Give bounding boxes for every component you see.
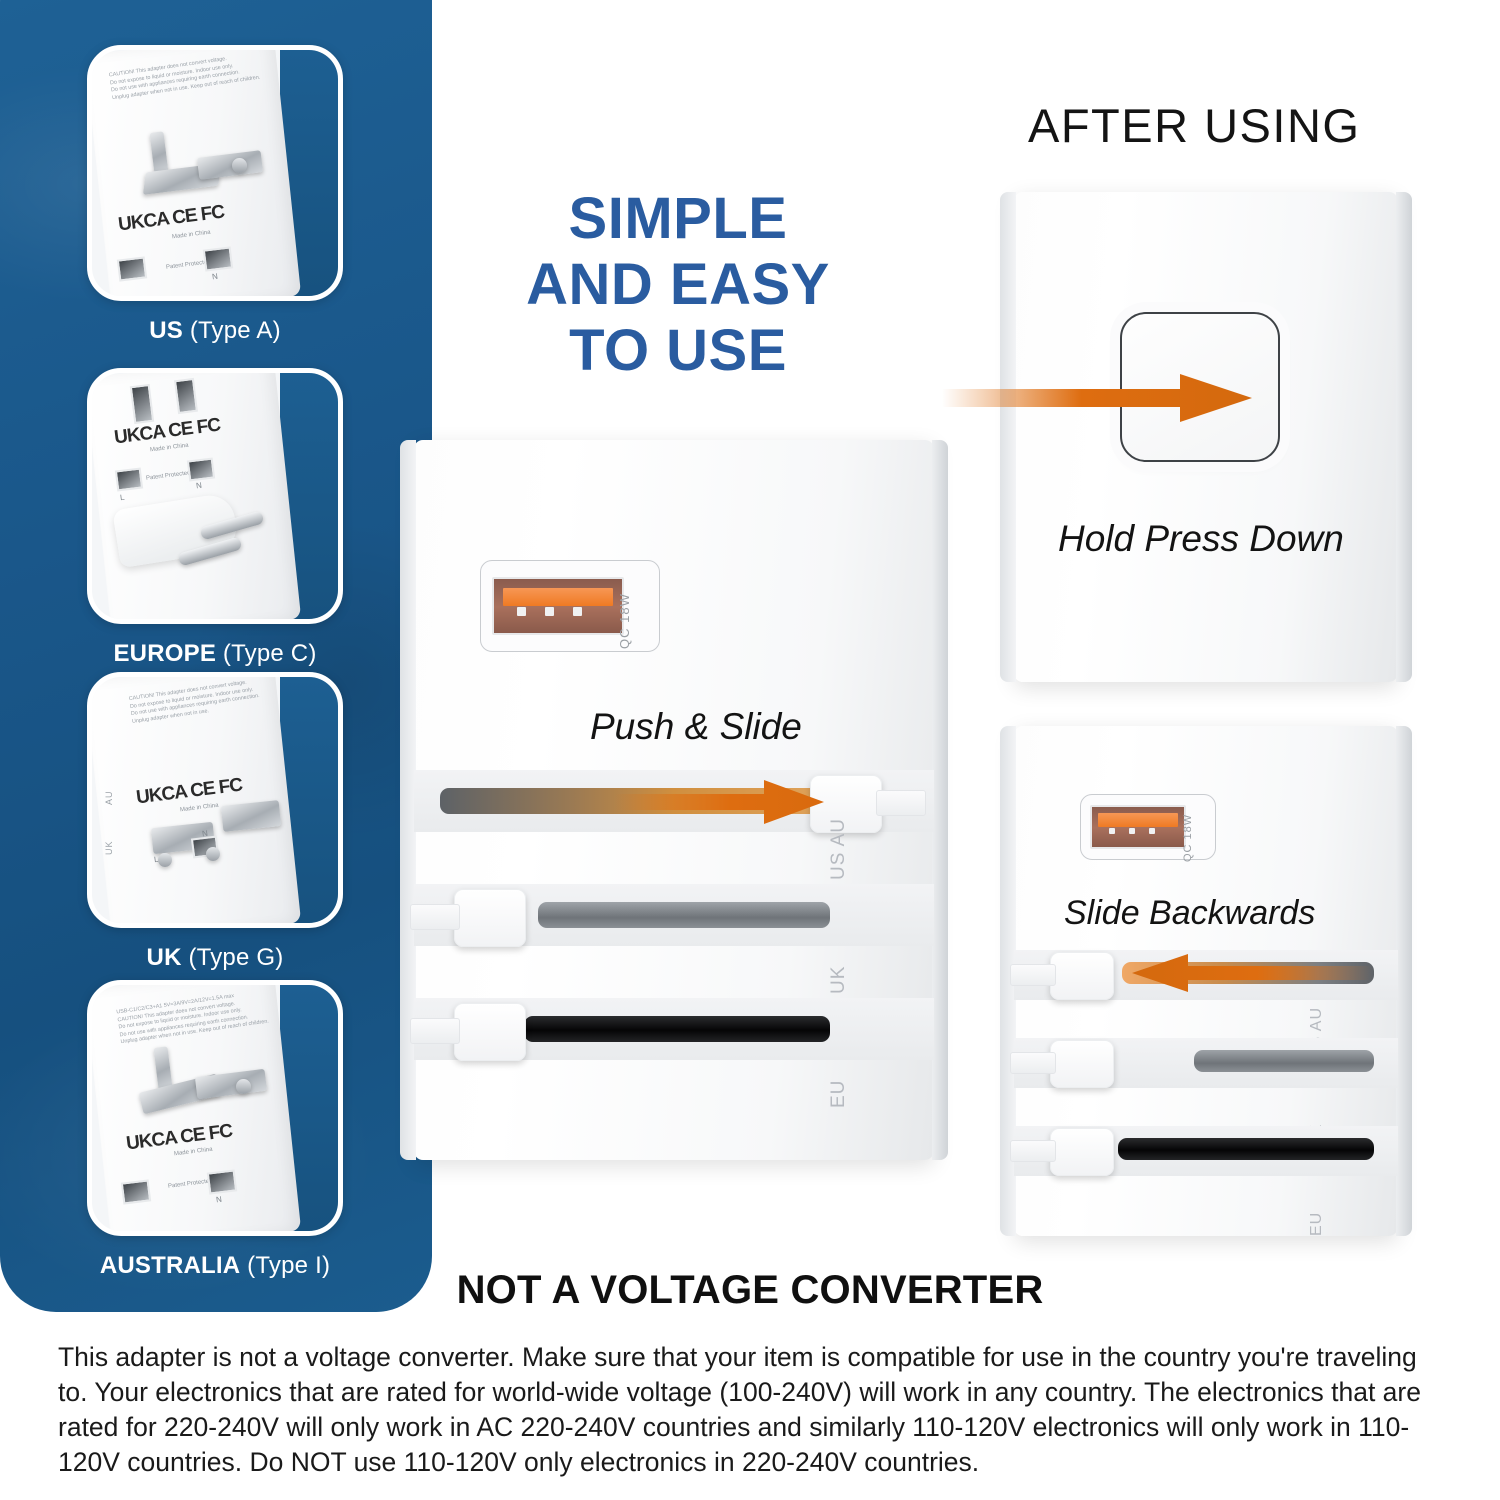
plug-type-europe: (Type C) <box>216 640 316 667</box>
arrow-right-us-au <box>614 780 824 824</box>
plug-country-europe: EUROPE <box>113 640 216 667</box>
qc-18w-label-2: QC 18W <box>1182 814 1194 862</box>
usb-pin-2 <box>545 607 554 616</box>
socket-letter-n: N <box>211 272 218 282</box>
device-edge-right <box>1396 726 1412 1236</box>
plug-card-uk: CAUTION! This adapter does not convert v… <box>92 672 338 972</box>
arrow-left-us-au <box>1132 954 1372 992</box>
usb-port-assembly-2: QC 18W <box>1080 794 1216 860</box>
plug-photo-australia: USB-C1/C2/C3+A1 5V=3A/9V=2A/12V=1.5A max… <box>87 980 343 1236</box>
slider-tab-uk-2 <box>1010 1052 1056 1074</box>
side-label-uk: UK <box>104 840 114 855</box>
device-edge-right <box>1396 192 1412 682</box>
socket-hole-n <box>187 457 215 481</box>
plug-photo-europe: UKCA CE FC Made in China Patent Protecte… <box>87 368 343 624</box>
slider-tab-eu <box>410 1018 460 1044</box>
slider-knob-eu[interactable] <box>454 1003 526 1061</box>
plug-card-europe: UKCA CE FC Made in China Patent Protecte… <box>92 368 338 668</box>
slider-track-eu-2 <box>1118 1138 1374 1160</box>
us-pin-ground <box>232 158 247 173</box>
qc-18w-label: QC 18W <box>617 593 632 649</box>
plug-label-uk: UK (Type G) <box>147 944 284 972</box>
socket-hole-n <box>207 1169 237 1194</box>
usb-port-assembly: QC 18W <box>480 560 660 652</box>
hold-press-device: Hold Press Down <box>1014 192 1398 682</box>
plug-type-uk: (Type G) <box>182 944 284 971</box>
uk-pin-earth-a <box>158 853 172 867</box>
plug-card-us: CAUTION! This adapter does not convert v… <box>92 45 338 345</box>
slider-tab-uk <box>410 904 460 930</box>
plug-label-us: US (Type A) <box>149 317 281 345</box>
plug-type-us: (Type A) <box>183 317 281 344</box>
usb-pin-3 <box>573 607 582 616</box>
slider-label-us-au: US AU <box>828 818 850 880</box>
slider-knob-eu-2[interactable] <box>1050 1128 1114 1176</box>
socket-hole-n <box>203 246 233 271</box>
plug-country-uk: UK <box>147 944 182 971</box>
au-pin-ground <box>236 1079 251 1094</box>
socket-letter-n: N <box>215 1195 222 1205</box>
socket-letter-l: L <box>119 493 125 502</box>
main-headline: SIMPLE AND EASY TO USE <box>462 186 894 384</box>
usb-port-outline-2 <box>1080 794 1216 860</box>
plug-country-us: US <box>149 317 183 344</box>
usb-port-outline <box>480 560 660 652</box>
slider-knob-uk-2[interactable] <box>1050 1040 1114 1088</box>
slide-backwards-caption: Slide Backwards <box>1064 894 1315 933</box>
usb-pin-2 <box>1129 828 1135 834</box>
socket-hole-l <box>121 1179 151 1204</box>
usb-tongue-2 <box>1098 813 1177 827</box>
after-using-title: AFTER USING <box>1028 98 1360 153</box>
headline-line-2: AND EASY <box>462 252 894 318</box>
plug-card-australia: USB-C1/C2/C3+A1 5V=3A/9V=2A/12V=1.5A max… <box>92 980 338 1280</box>
infographic-canvas: CAUTION! This adapter does not convert v… <box>0 0 1500 1500</box>
device-edge-right <box>932 440 948 1160</box>
usb-pin-1 <box>1109 828 1115 834</box>
arrow-right-press <box>942 372 1252 424</box>
socket-letter-n: N <box>195 481 202 491</box>
headline-line-3: TO USE <box>462 318 894 384</box>
push-and-slide-caption: Push & Slide <box>590 706 802 748</box>
footer-disclaimer: This adapter is not a voltage converter.… <box>58 1340 1446 1480</box>
socket-hole-l <box>117 256 147 281</box>
slider-knob-uk[interactable] <box>454 889 526 947</box>
footer-title: NOT A VOLTAGE CONVERTER <box>0 1268 1500 1313</box>
slider-tab-eu-2 <box>1010 1140 1056 1162</box>
plug-photo-uk: CAUTION! This adapter does not convert v… <box>87 672 343 928</box>
slider-label-eu: EU <box>828 1080 850 1108</box>
slider-knob-us-au-2[interactable] <box>1050 952 1114 1000</box>
slider-track-uk-2 <box>1194 1050 1374 1072</box>
side-label-au: AU <box>104 790 114 805</box>
slider-track-eu <box>524 1016 830 1042</box>
usb-pin-3 <box>1149 828 1155 834</box>
usb-a-port-2 <box>1090 805 1186 849</box>
plug-photo-us: CAUTION! This adapter does not convert v… <box>87 45 343 301</box>
plug-types-sidebar: CAUTION! This adapter does not convert v… <box>0 0 432 1312</box>
usb-tongue <box>503 588 613 606</box>
socket-hole-l <box>115 467 143 491</box>
socket-slot-2 <box>174 378 198 414</box>
socket-letter-n: N <box>201 829 208 839</box>
slide-backwards-device: QC 18W Slide Backwards US AU UK EU <box>1014 726 1398 1236</box>
slider-label-eu-2: EU <box>1308 1212 1326 1236</box>
hold-press-down-caption: Hold Press Down <box>1058 518 1344 560</box>
uk-pin-earth-b <box>206 847 220 861</box>
usb-a-port <box>492 577 624 635</box>
device-edge-left <box>1000 192 1016 682</box>
slider-tab-us-au-2 <box>1010 964 1056 986</box>
slider-track-uk <box>538 902 830 928</box>
usb-pin-1 <box>517 607 526 616</box>
plug-label-europe: EUROPE (Type C) <box>113 640 316 668</box>
headline-line-1: SIMPLE <box>462 186 894 252</box>
slider-tab-us-au <box>876 790 926 816</box>
slider-label-uk: UK <box>828 966 850 994</box>
main-adapter-device: QC 18W Push & Slide US AU UK EU <box>414 440 934 1160</box>
